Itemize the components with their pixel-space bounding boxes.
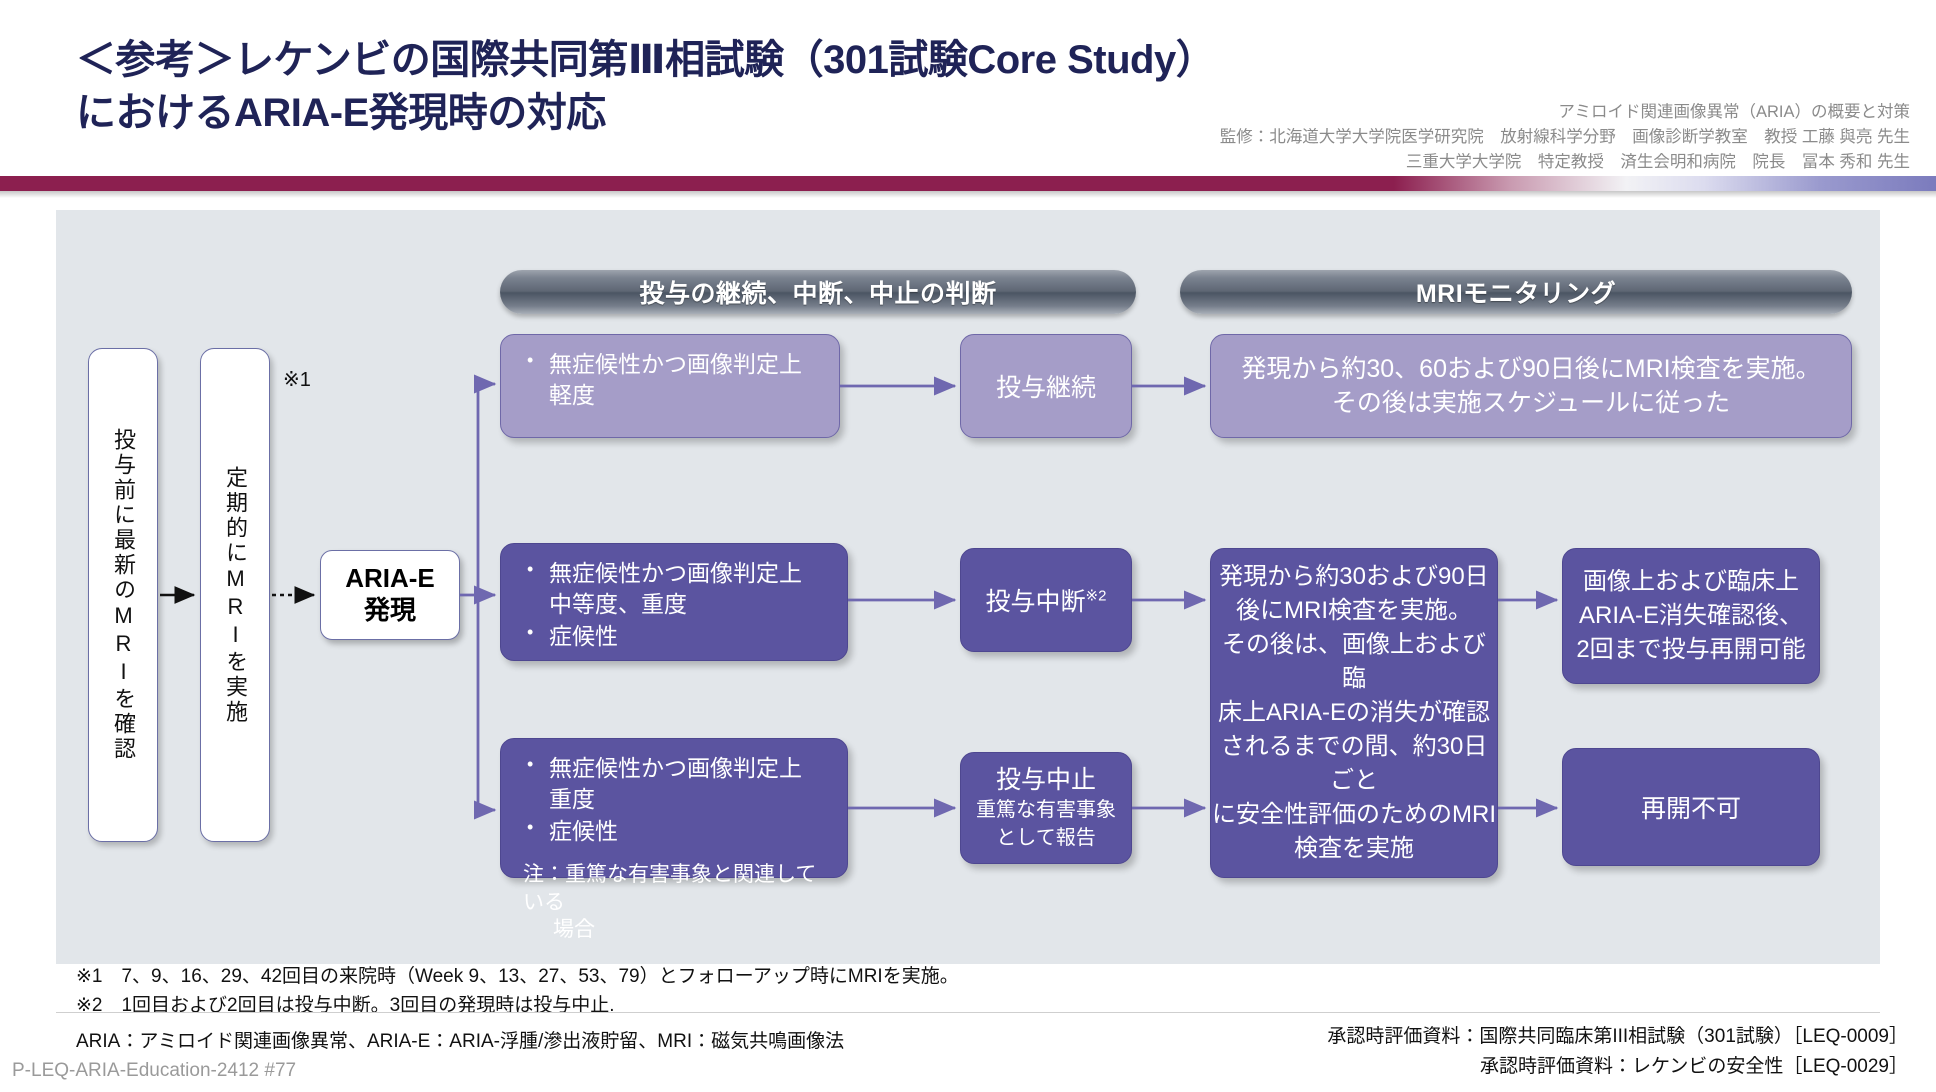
action-box-stop-sub-1: 重篤な有害事象 <box>976 797 1116 823</box>
footer-divider <box>56 1012 1880 1013</box>
criteria-box-severe-note: 注：重篤な有害事象と関連している 場合 <box>501 861 847 943</box>
criteria-bullet: 無症候性かつ画像判定上 軽度 <box>523 349 823 411</box>
footnote-2: ※2 1回目および2回目は投与中断。3回目の発現時は投与中止. <box>76 991 959 1020</box>
outcome-box-resume-line-2: ARIA-E消失確認後、 <box>1579 599 1803 633</box>
section-banner-decision: 投与の継続、中断、中止の判断 <box>500 270 1136 314</box>
outcome-box-no-resume-label: 再開不可 <box>1641 789 1741 825</box>
references: 承認時評価資料：国際共同臨床第III相試験（301試験）［LEQ-0009］ 承… <box>1327 1022 1908 1083</box>
mri-box-schedule-severe-line-6: に安全性評価のためのMRI <box>1212 798 1496 832</box>
action-box-interrupt-label: 投与中断 <box>986 588 1086 616</box>
action-box-interrupt-wrap: 投与中断※2 <box>986 582 1107 618</box>
section-banner-mri: MRIモニタリング <box>1180 270 1852 314</box>
reference-1: 承認時評価資料：国際共同臨床第III相試験（301試験）［LEQ-0009］ <box>1327 1022 1908 1052</box>
criteria-bullet: 症候性 <box>523 621 831 652</box>
criteria-note-indent: 場合 <box>523 916 831 943</box>
credit-line-2: 監修：北海道大学大学院医学研究院 放射線科学分野 画像診断学教室 教授 工藤 與… <box>1220 125 1910 150</box>
header-band-shadow <box>0 191 1936 198</box>
mri-box-schedule-mild-line-2: その後は実施スケジュールに従った <box>1332 386 1730 420</box>
mri-box-schedule-severe-line-2: 後にMRI検査を実施。 <box>1236 594 1472 628</box>
action-box-stop-label: 投与中止 <box>996 765 1096 795</box>
credit-line-1: アミロイド関連画像異常（ARIA）の概要と対策 <box>1220 100 1910 125</box>
credit-line-3: 三重大学大学院 特定教授 済生会明和病院 院長 冨本 秀和 先生 <box>1220 150 1910 175</box>
flow-box-periodic-mri: 定期的にMRIを実施 <box>200 348 270 842</box>
action-box-continue-label: 投与継続 <box>996 368 1096 404</box>
criteria-bullet: 症候性 <box>523 816 831 847</box>
criteria-box-moderate-list: 無症候性かつ画像判定上 中等度、重度 症候性 <box>501 544 847 666</box>
abbreviations-line: ARIA：アミロイド関連画像異常、ARIA-E：ARIA-浮腫/滲出液貯留、MR… <box>76 1026 844 1053</box>
outcome-box-resume-line-3: 2回まで投与再開可能 <box>1576 633 1805 667</box>
document-id: P-LEQ-ARIA-Education-2412 #77 <box>12 1060 296 1082</box>
mri-box-schedule-mild: 発現から約30、60および90日後にMRI検査を実施。 その後は実施スケジュール… <box>1210 334 1852 438</box>
action-box-stop-sub-2: として報告 <box>996 825 1095 851</box>
criteria-box-moderate: 無症候性かつ画像判定上 中等度、重度 症候性 <box>500 543 848 661</box>
criteria-bullet: 無症候性かつ画像判定上 中等度、重度 <box>523 558 831 620</box>
mri-box-schedule-mild-line-1: 発現から約30、60および90日後にMRI検査を実施。 <box>1241 352 1820 386</box>
footnote-marker-2: ※2 <box>1086 588 1107 605</box>
flow-box-aria-e-onset: ARIA-E 発現 <box>320 550 460 640</box>
criteria-box-severe: 無症候性かつ画像判定上 重度 症候性 注：重篤な有害事象と関連している 場合 <box>500 738 848 878</box>
aria-e-line-1: ARIA-E <box>345 563 435 595</box>
footnote-1: ※1 7、9、16、29、42回目の来院時（Week 9、13、27、53、79… <box>76 962 959 991</box>
mri-box-schedule-severe-line-1: 発現から約30および90日 <box>1219 560 1488 594</box>
title-line-1: ＜参考＞レケンビの国際共同第Ⅲ相試験（301試験Core Study） <box>76 34 1476 87</box>
outcome-box-resume-line-1: 画像上および臨床上 <box>1583 565 1799 599</box>
mri-box-schedule-severe-line-4: 床上ARIA-Eの消失が確認 <box>1218 696 1490 730</box>
action-box-interrupt: 投与中断※2 <box>960 548 1132 652</box>
header-accent-band <box>0 176 1936 191</box>
aria-e-line-2: 発現 <box>364 595 416 627</box>
flow-box-periodic-mri-label: 定期的にMRIを実施 <box>224 466 246 725</box>
outcome-box-no-resume: 再開不可 <box>1562 748 1820 866</box>
action-box-stop: 投与中止 重篤な有害事象 として報告 <box>960 752 1132 864</box>
supervisor-credits: アミロイド関連画像異常（ARIA）の概要と対策 監修：北海道大学大学院医学研究院… <box>1220 100 1910 174</box>
flow-box-pre-dose-mri-label: 投与前に最新のMRIを確認 <box>112 428 134 762</box>
footnote-marker-1: ※1 <box>283 367 311 392</box>
mri-box-schedule-severe-line-7: 検査を実施 <box>1294 832 1414 866</box>
action-box-continue: 投与継続 <box>960 334 1132 438</box>
mri-box-schedule-severe-line-3: その後は、画像上および臨 <box>1211 628 1497 696</box>
criteria-note-label: 注：重篤な有害事象と関連している <box>523 863 816 913</box>
criteria-box-mild: 無症候性かつ画像判定上 軽度 <box>500 334 840 438</box>
mri-box-schedule-severe: 発現から約30および90日 後にMRI検査を実施。 その後は、画像上および臨 床… <box>1210 548 1498 878</box>
outcome-box-resume-allowed: 画像上および臨床上 ARIA-E消失確認後、 2回まで投与再開可能 <box>1562 548 1820 684</box>
mri-box-schedule-severe-line-5: されるまでの間、約30日ごと <box>1211 730 1497 798</box>
criteria-box-mild-list: 無症候性かつ画像判定上 軽度 <box>501 335 839 426</box>
criteria-box-severe-list: 無症候性かつ画像判定上 重度 症候性 <box>501 739 847 861</box>
flow-box-pre-dose-mri: 投与前に最新のMRIを確認 <box>88 348 158 842</box>
criteria-bullet: 無症候性かつ画像判定上 重度 <box>523 753 831 815</box>
slide-root: ＜参考＞レケンビの国際共同第Ⅲ相試験（301試験Core Study） における… <box>0 0 1936 1092</box>
reference-2: 承認時評価資料：レケンビの安全性［LEQ-0029］ <box>1327 1052 1908 1082</box>
